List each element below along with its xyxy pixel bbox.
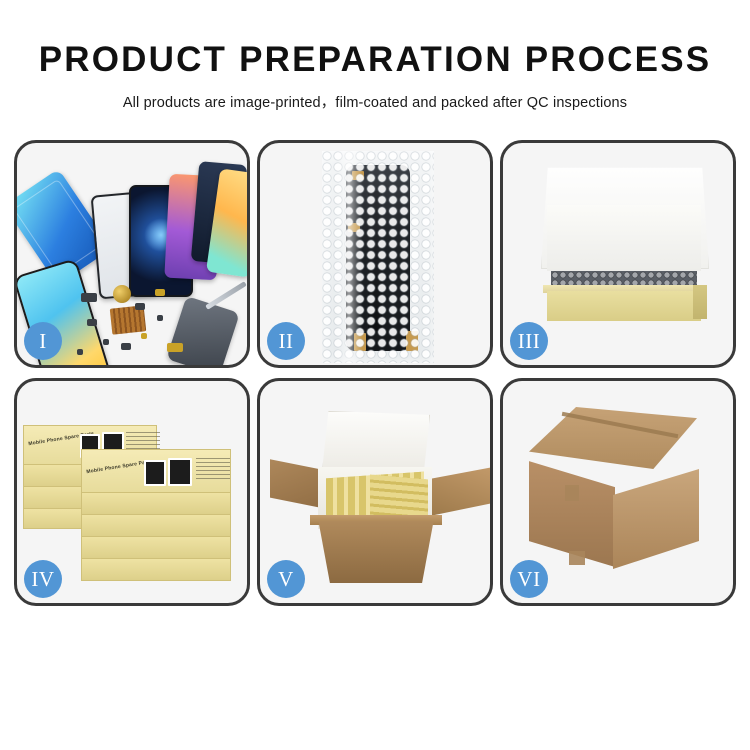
box-front-panel	[547, 291, 701, 321]
step-badge-4: IV	[24, 560, 62, 598]
step-badge-3: III	[510, 322, 548, 360]
step-badge-5: V	[267, 560, 305, 598]
stacked-box	[81, 513, 231, 537]
carton-top-panel	[529, 407, 697, 469]
process-steps-grid: I II	[14, 140, 736, 616]
spare-chip	[141, 333, 147, 339]
step-panel-2[interactable]: II	[257, 140, 493, 368]
tweezers-tool	[205, 281, 247, 310]
page-header: PRODUCT PREPARATION PROCESS All products…	[0, 0, 750, 112]
foam-sheet	[547, 205, 701, 271]
carton-tape-patch	[569, 551, 585, 565]
step-badge-6: VI	[510, 560, 548, 598]
bubble-bag	[322, 151, 434, 363]
step-panel-5[interactable]: V	[257, 378, 493, 606]
box-window-graphic	[144, 460, 166, 486]
stacked-box-top-right: Mobile Phone Spare Parts	[81, 449, 231, 493]
spare-chip	[87, 319, 97, 326]
stacked-box	[81, 557, 231, 581]
vibration-motor-part	[113, 285, 131, 303]
process-row-2: Mobile Phone Spare Parts Mobile Phone Sp…	[14, 378, 736, 606]
plastic-glare	[336, 151, 362, 363]
stacked-box	[81, 491, 231, 515]
step-panel-6[interactable]: VI	[500, 378, 736, 606]
box-spec-lines	[196, 458, 230, 480]
carton-tape-patch	[565, 485, 579, 501]
spare-chip	[81, 293, 97, 302]
carton-flap-right	[428, 463, 490, 521]
step-panel-1[interactable]: I	[14, 140, 250, 368]
step-panel-3[interactable]: III	[500, 140, 736, 368]
foam-lid	[322, 411, 430, 475]
spare-chip	[135, 303, 145, 310]
spare-chip	[121, 343, 131, 350]
phone-back-housing	[166, 296, 240, 368]
carton-right-panel	[613, 469, 699, 569]
product-preparation-page: PRODUCT PREPARATION PROCESS All products…	[0, 0, 750, 750]
page-title: PRODUCT PREPARATION PROCESS	[0, 42, 750, 79]
page-subtitle: All products are image-printed，film-coat…	[0, 91, 750, 112]
spare-chip	[103, 339, 109, 345]
box-side-panel	[693, 285, 707, 319]
spare-chip	[167, 343, 183, 352]
carton-front-panel	[312, 521, 440, 583]
spare-chip	[155, 289, 165, 296]
stacked-box	[81, 535, 231, 559]
step-badge-1: I	[24, 322, 62, 360]
step-panel-4[interactable]: Mobile Phone Spare Parts Mobile Phone Sp…	[14, 378, 250, 606]
process-row-1: I II	[14, 140, 736, 368]
step-badge-2: II	[267, 322, 305, 360]
box-window-graphic	[168, 458, 192, 486]
spare-chip	[157, 315, 163, 321]
spare-chip	[77, 349, 83, 355]
box-label-text: Mobile Phone Spare Parts	[86, 459, 153, 475]
